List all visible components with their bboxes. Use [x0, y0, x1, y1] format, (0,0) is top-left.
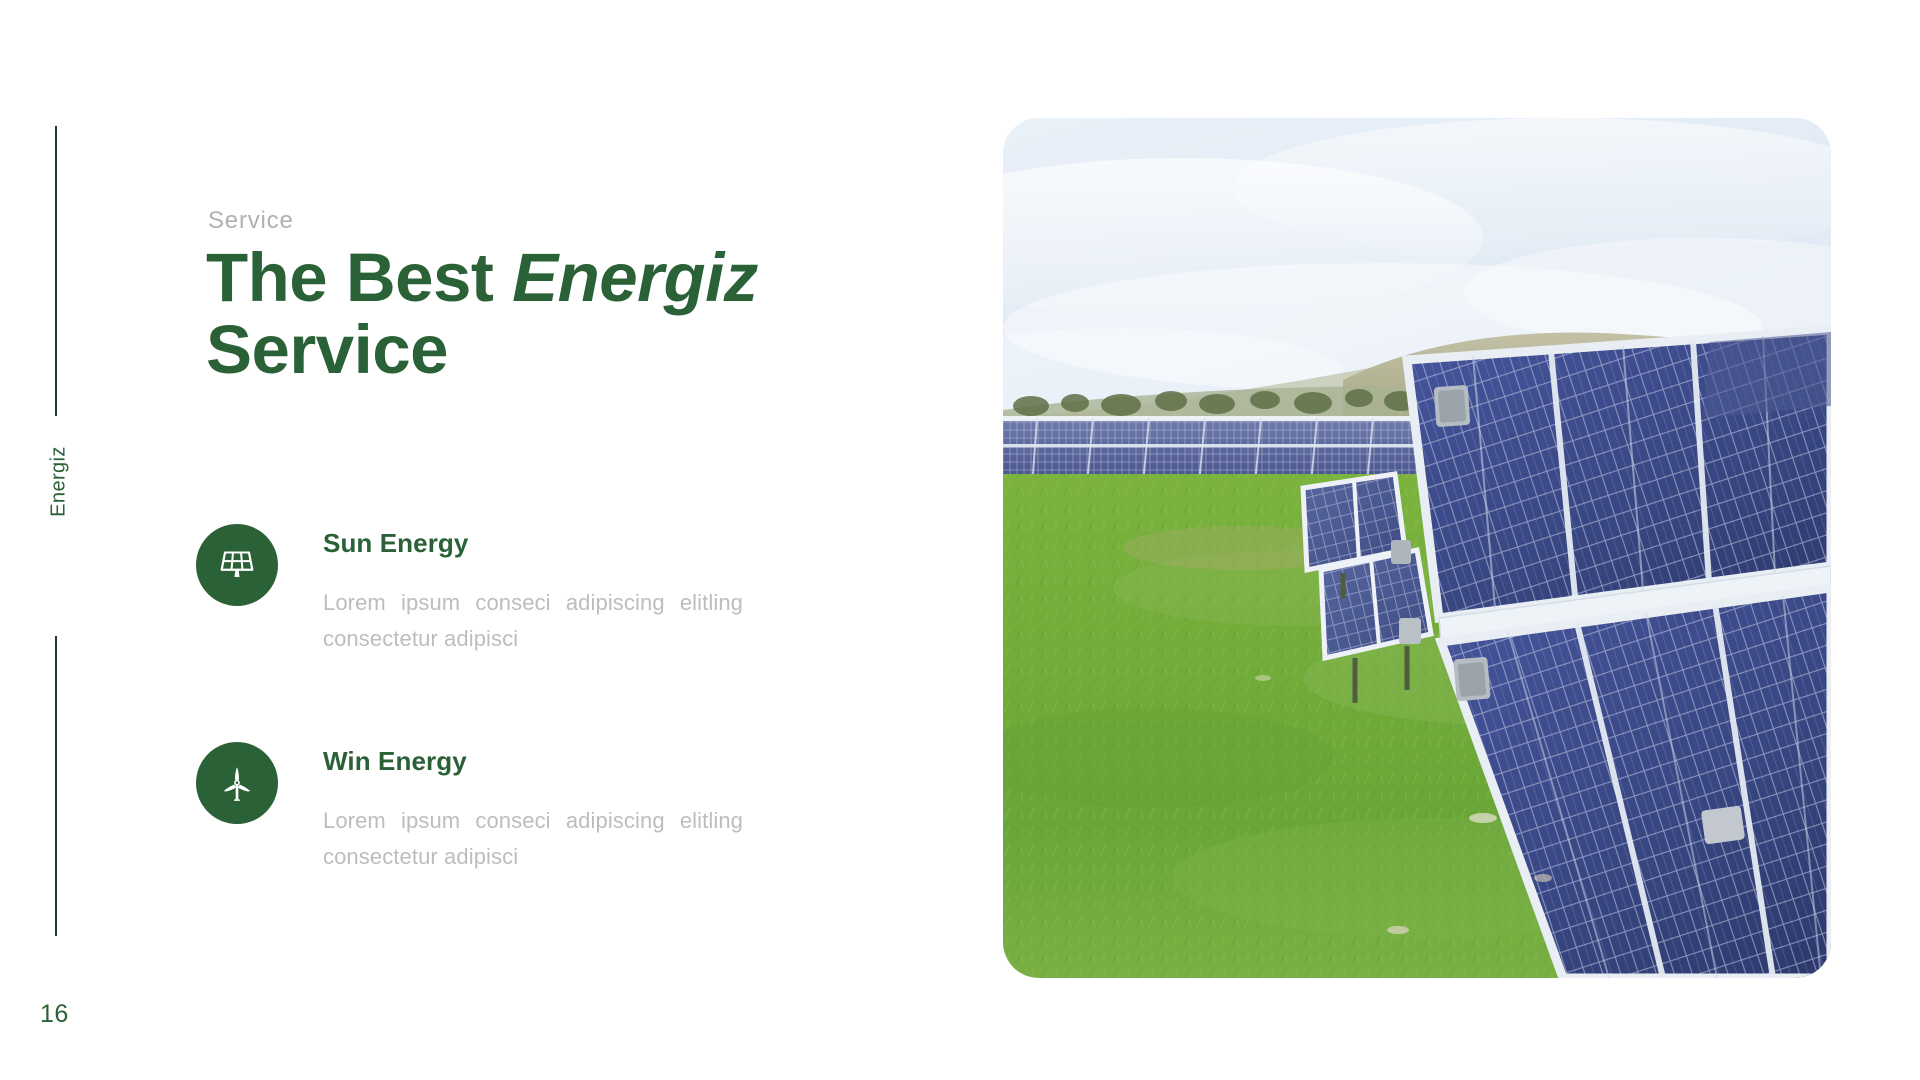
vertical-brand-label: Energiz [48, 417, 71, 547]
page-title-part2: Service [206, 311, 448, 388]
service-text-block: Win Energy Lorem ipsum conseci adipiscin… [323, 740, 743, 874]
wind-turbine-icon [196, 742, 278, 824]
page-title-emphasis: Energiz [512, 239, 758, 316]
slide-root: Energiz 16 Service The Best EnergizServi… [0, 0, 1920, 1080]
service-title: Win Energy [323, 746, 743, 777]
solar-panel-icon [196, 524, 278, 606]
rail-line-bottom [55, 636, 57, 936]
service-title: Sun Energy [323, 528, 743, 559]
service-item-sun-energy: Sun Energy Lorem ipsum conseci adipiscin… [196, 522, 816, 656]
service-text-block: Sun Energy Lorem ipsum conseci adipiscin… [323, 522, 743, 656]
page-number: 16 [40, 1000, 69, 1029]
page-title: The Best EnergizService [206, 242, 926, 386]
service-item-win-energy: Win Energy Lorem ipsum conseci adipiscin… [196, 740, 816, 874]
rail-line-top [55, 126, 57, 416]
solar-farm-photo [1003, 118, 1831, 978]
page-title-part1: The Best [206, 239, 512, 316]
service-description: Lorem ipsum conseci adipiscing elitling … [323, 585, 743, 656]
section-eyebrow: Service [208, 207, 294, 235]
service-description: Lorem ipsum conseci adipiscing elitling … [323, 803, 743, 874]
